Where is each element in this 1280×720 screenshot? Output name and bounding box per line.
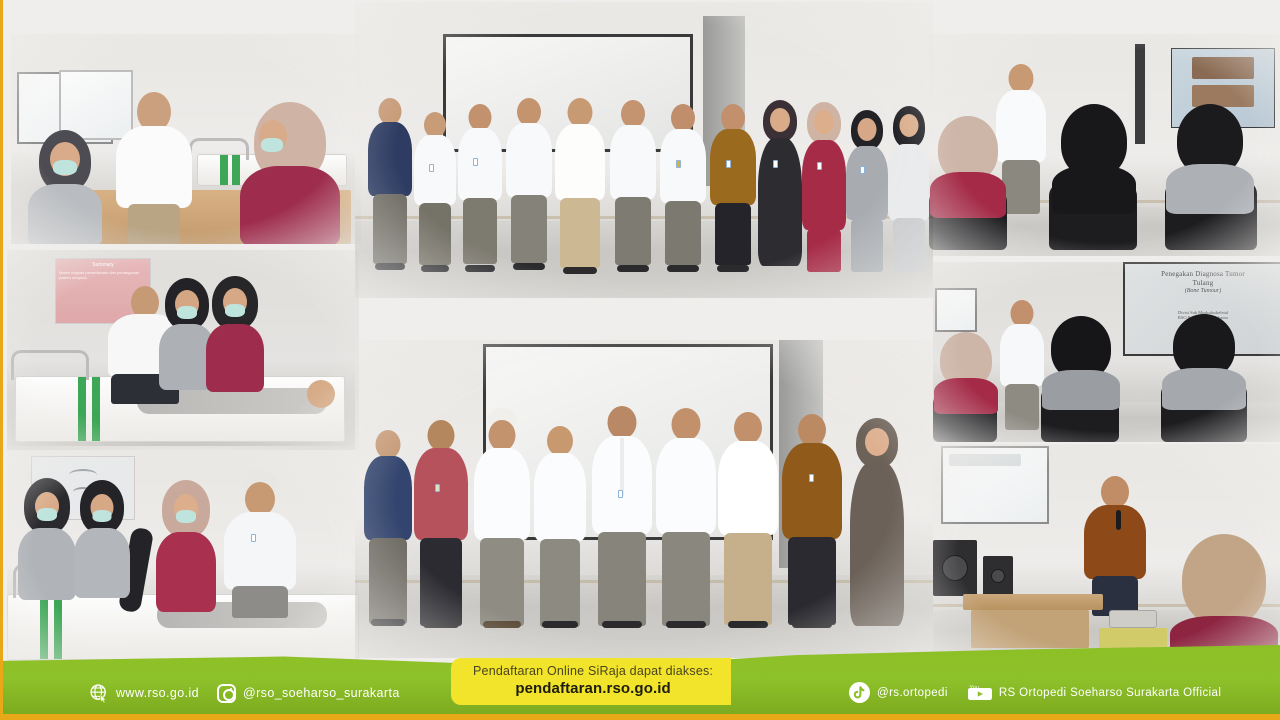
microphone bbox=[1116, 510, 1121, 530]
person bbox=[505, 98, 553, 270]
person bbox=[307, 380, 335, 408]
photo-speaker-bottom-right bbox=[933, 444, 1280, 662]
person bbox=[781, 414, 843, 628]
slide-subtitle: (Bone Tumour) bbox=[1129, 288, 1277, 294]
person bbox=[709, 104, 757, 272]
registration-callout: Pendaftaran Online SiRaja dapat diakses:… bbox=[451, 658, 731, 705]
photo-lecture-top-right bbox=[929, 34, 1280, 256]
person bbox=[1053, 104, 1135, 212]
slide-body: Materi ringkas pemeriksaan dan penangana… bbox=[59, 270, 147, 281]
person bbox=[849, 418, 905, 628]
person bbox=[935, 332, 997, 412]
person bbox=[845, 110, 889, 272]
person bbox=[887, 106, 931, 272]
person bbox=[111, 84, 197, 244]
person bbox=[367, 98, 413, 270]
person bbox=[1163, 314, 1245, 408]
person bbox=[655, 408, 717, 628]
footer-tiktok-label: @rs.ortopedi bbox=[877, 687, 948, 699]
footer-youtube-label: RS Ortopedi Soeharso Surakarta Official bbox=[999, 687, 1222, 699]
footer-website-link[interactable]: www.rso.go.id bbox=[89, 683, 199, 703]
person bbox=[221, 472, 299, 618]
person bbox=[73, 480, 131, 598]
footer-bar: Pendaftaran Online SiRaja dapat diakses:… bbox=[3, 645, 1280, 717]
person bbox=[1043, 316, 1119, 408]
footer-socials-right: @rs.ortopedi You RS Ortopedi Soeharso Su… bbox=[849, 682, 1221, 703]
person bbox=[609, 100, 657, 272]
poster-canvas: Summary Materi ringkas pemeriksaan dan p… bbox=[0, 0, 1280, 720]
tiktok-icon bbox=[849, 682, 870, 703]
person bbox=[17, 478, 77, 600]
footer-gold-rule bbox=[3, 714, 1280, 717]
person bbox=[931, 116, 1005, 216]
person bbox=[205, 276, 265, 392]
registration-callout-line1: Pendaftaran Online SiRaja dapat diakses: bbox=[473, 663, 713, 680]
slide-title-line2: Tulang bbox=[1129, 279, 1277, 288]
photo-consultation-desk bbox=[11, 34, 361, 244]
lanyard bbox=[620, 438, 624, 496]
person bbox=[23, 104, 107, 244]
person bbox=[1167, 104, 1253, 212]
person bbox=[1171, 534, 1277, 662]
person bbox=[155, 480, 217, 612]
person bbox=[999, 300, 1045, 430]
person bbox=[413, 112, 457, 272]
footer-instagram-label: @rso_soeharso_surakarta bbox=[243, 686, 400, 700]
photo-lecture-mid-right: Penegakan Diagnosa Tumor Tulang (Bone Tu… bbox=[933, 262, 1280, 442]
person bbox=[591, 406, 653, 628]
person bbox=[659, 104, 707, 272]
footer-youtube-link[interactable]: You RS Ortopedi Soeharso Surakarta Offic… bbox=[968, 684, 1222, 701]
projector bbox=[1109, 610, 1157, 628]
person bbox=[533, 426, 587, 628]
registration-url[interactable]: pendaftaran.rso.go.id bbox=[473, 680, 713, 698]
photo-group-large-top bbox=[355, 2, 933, 298]
slide-heading: Summary bbox=[59, 262, 147, 268]
person bbox=[801, 102, 847, 272]
person bbox=[757, 100, 803, 272]
person bbox=[363, 430, 413, 626]
person bbox=[473, 412, 531, 628]
person bbox=[555, 98, 605, 274]
globe-icon bbox=[89, 683, 109, 703]
photo-bed-examination-mid: Summary Materi ringkas pemeriksaan dan p… bbox=[7, 250, 359, 450]
person bbox=[237, 92, 343, 244]
photo-collage: Summary Materi ringkas pemeriksaan dan p… bbox=[3, 0, 1280, 717]
person bbox=[413, 420, 469, 628]
person bbox=[457, 104, 503, 272]
photo-leg-raise-bottom bbox=[7, 446, 359, 662]
person bbox=[717, 412, 779, 628]
photo-group-bottom bbox=[355, 340, 933, 658]
svg-text:You: You bbox=[969, 685, 979, 691]
instagram-icon bbox=[217, 684, 236, 703]
slide-title-line1: Penegakan Diagnosa Tumor bbox=[1129, 270, 1277, 279]
whiteboard bbox=[941, 446, 1049, 524]
footer-website-label: www.rso.go.id bbox=[116, 686, 199, 700]
youtube-icon: You bbox=[968, 684, 992, 701]
footer-socials-left: www.rso.go.id @rso_soeharso_surakarta bbox=[89, 683, 400, 703]
footer-tiktok-link[interactable]: @rs.ortopedi bbox=[849, 682, 948, 703]
footer-instagram-link[interactable]: @rso_soeharso_surakarta bbox=[217, 684, 400, 703]
